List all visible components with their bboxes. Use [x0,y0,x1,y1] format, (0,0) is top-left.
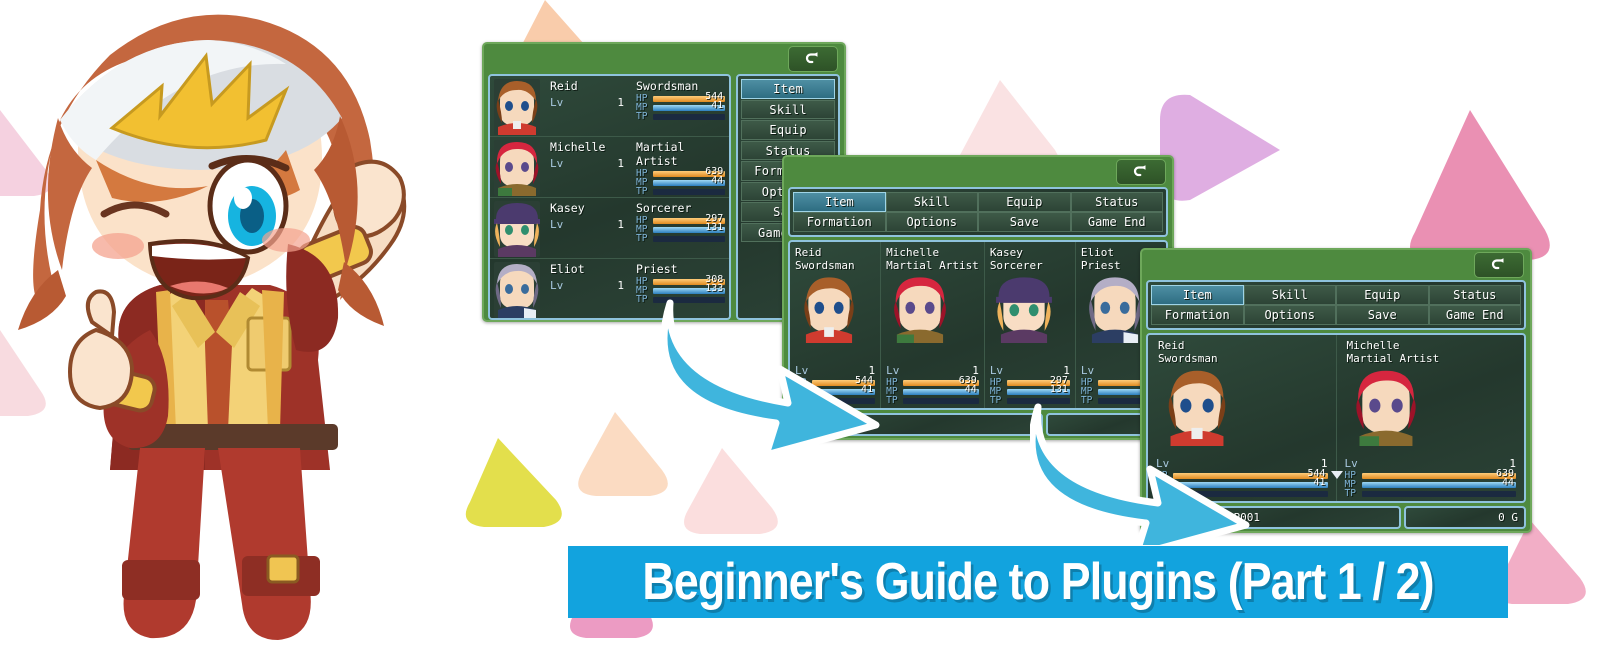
party-row[interactable]: Eliot Lv1 Priest HP308 MP133 TP [490,259,729,320]
mp-value: 131 [705,222,723,233]
party-cell[interactable]: Michelle Martial Artist Lv1 HP639 MP44 T… [881,242,985,408]
party-row[interactable]: Reid Lv1 Swordsman HP544 MP41 TP [490,76,729,137]
tp-gauge: TP [636,235,725,242]
gold-display-3: 0 G [1404,506,1526,529]
mp-gauge: MP131 [990,388,1070,395]
party-cell[interactable]: Reid Swordsman Lv1 HP544 MP41 TP [790,242,881,408]
back-button-1[interactable] [788,46,838,72]
tp-gauge [1156,490,1328,497]
party-cell[interactable]: Reid Swordsman Lv1 HP544 41 [1148,335,1337,501]
back-arrow-icon [1490,256,1508,274]
command-skill[interactable]: Skill [1244,285,1337,305]
hp-gauge: HP639 [1345,472,1517,479]
mp-gauge: MP41 [636,104,725,111]
hp-gauge: HP544 [1156,472,1328,479]
mp-value: 133 [705,283,723,294]
mp-gauge: MP44 [886,388,979,395]
command-game-end[interactable]: Game End [1429,305,1522,325]
actor-class: Martial Artist [1347,352,1520,365]
tp-label: TP [1345,488,1362,499]
tp-gauge: TP [636,188,725,195]
actor-class: Sorcerer [990,259,1070,272]
tp-label: TP [636,294,653,305]
tp-gauge: TP [636,296,725,303]
actor-name: Kasey [550,201,636,215]
tp-label: TP [1081,395,1098,406]
tp-gauge: TP [886,397,979,404]
command-panel-3[interactable]: Item Skill Equip Status Formation Option… [1146,280,1526,330]
party-cell[interactable]: Michelle Martial Artist Lv1 HP639 MP44 T… [1337,335,1525,501]
avatar [1081,275,1149,343]
avatar [990,275,1058,343]
mp-value: 41 [711,100,723,111]
actor-level: 1 [617,279,624,292]
actor-name: Michelle [886,246,979,259]
command-equip[interactable]: Equip [978,192,1071,212]
tp-label: TP [636,111,653,122]
party-status-panel-2: Reid Swordsman Lv1 HP544 MP41 TP Michell… [788,240,1168,410]
command-equip[interactable]: Equip [1336,285,1429,305]
avatar [1347,368,1425,446]
actor-class: Martial Artist [636,140,725,168]
command-formation[interactable]: Formation [793,212,886,232]
avatar [494,140,540,196]
lv-label: Lv [550,279,563,292]
tp-label: TP [990,395,1007,406]
command-save[interactable]: Save [978,212,1071,232]
mp-gauge: MP133 [636,287,725,294]
tp-gauge: TP [636,113,725,120]
avatar [494,201,540,257]
party-status-panel-1: Reid Lv1 Swordsman HP544 MP41 TP Michell… [488,74,731,320]
command-options[interactable]: Options [1244,305,1337,325]
party-cell[interactable]: Kasey Sorcerer Lv1 HP297 MP131 TP [985,242,1076,408]
lv-label: Lv [795,364,808,377]
mp-value: 44 [965,384,977,395]
mp-value: 41 [861,384,873,395]
lv-label: Lv [550,218,563,231]
location-display-2: MAP001 [788,413,1043,436]
tp-label: TP [795,395,812,406]
title-banner: Beginner's Guide to Plugins (Part 1 / 2) [568,546,1508,618]
status-bar-3: Location: MAP001 0 G [1146,506,1526,529]
command-status[interactable]: Status [1071,192,1164,212]
party-row[interactable]: Michelle Lv1 Martial Artist HP639 MP44 T… [490,137,729,198]
back-arrow-icon [804,50,822,68]
actor-name: Michelle [1347,339,1520,352]
command-item[interactable]: Item [793,192,886,212]
window3-titlebar [1146,254,1526,280]
party-status-panel-3: Reid Swordsman Lv1 HP544 41 Michelle Mar… [1146,333,1526,503]
command-panel-2[interactable]: Item Skill Equip Status Formation Option… [788,187,1168,237]
mp-gauge: 41 [1156,481,1328,488]
avatar [1158,368,1236,446]
lv-label: Lv [1345,457,1358,470]
command-status[interactable]: Status [1429,285,1522,305]
command-item[interactable]: Item [1151,285,1244,305]
status-bar-2: MAP001 0 G [788,413,1168,436]
actor-level: 1 [617,218,624,231]
command-formation[interactable]: Formation [1151,305,1244,325]
actor-name: Reid [1158,339,1331,352]
lv-label: Lv [886,364,899,377]
mp-gauge: MP131 [636,226,725,233]
tp-label: TP [636,233,653,244]
actor-name: Reid [550,79,636,93]
lv-label: Lv [550,96,563,109]
rpg-menu-window-2[interactable]: Item Skill Equip Status Formation Option… [782,155,1174,440]
mp-value: 44 [1502,477,1514,488]
lv-label: Lv [990,364,1003,377]
tp-gauge: TP [1345,490,1517,497]
avatar [886,275,954,343]
mp-gauge: MP41 [795,388,875,395]
banner-text: Beginner's Guide to Plugins (Part 1 / 2) [642,552,1433,612]
lv-label: Lv [1156,457,1169,470]
tp-gauge: TP [795,397,875,404]
window2-titlebar [788,161,1168,187]
actor-level: 1 [617,157,624,170]
actor-level: 1 [617,96,624,109]
command-save[interactable]: Save [1336,305,1429,325]
actor-name: Reid [795,246,875,259]
command-equip[interactable]: Equip [741,120,835,140]
command-skill[interactable]: Skill [741,100,835,120]
command-game-end[interactable]: Game End [1071,212,1164,232]
window1-titlebar [488,48,840,74]
mp-gauge: MP44 [1345,481,1517,488]
avatar [494,262,540,318]
actor-class: Swordsman [795,259,875,272]
tp-label: TP [886,395,903,406]
mascot-character-illustration [0,0,420,645]
command-options[interactable]: Options [886,212,979,232]
location-display-3: Location: MAP001 [1146,506,1401,529]
mp-gauge: MP44 [636,179,725,186]
back-button-3[interactable] [1474,252,1524,278]
actor-name: Kasey [990,246,1070,259]
command-skill[interactable]: Skill [886,192,979,212]
avatar [494,79,540,135]
mp-value: 131 [1050,384,1068,395]
actor-class: Swordsman [1158,352,1331,365]
mp-value: 44 [711,175,723,186]
party-row[interactable]: Kasey Lv1 Sorcerer HP297 MP131 TP [490,198,729,259]
mp-value: 41 [1313,477,1325,488]
tp-label: TP [636,186,653,197]
lv-label: Lv [550,157,563,170]
tp-gauge: TP [990,397,1070,404]
back-arrow-icon [1132,163,1150,181]
back-button-2[interactable] [1116,159,1166,185]
avatar [795,275,863,343]
hp-label: HP [1156,470,1173,481]
command-item[interactable]: Item [741,79,835,99]
actor-name: Michelle [550,140,636,154]
lv-label: Lv [1081,364,1094,377]
actor-class: Martial Artist [886,259,979,272]
rpg-menu-window-3[interactable]: Item Skill Equip Status Formation Option… [1140,248,1532,533]
actor-name: Eliot [550,262,636,276]
